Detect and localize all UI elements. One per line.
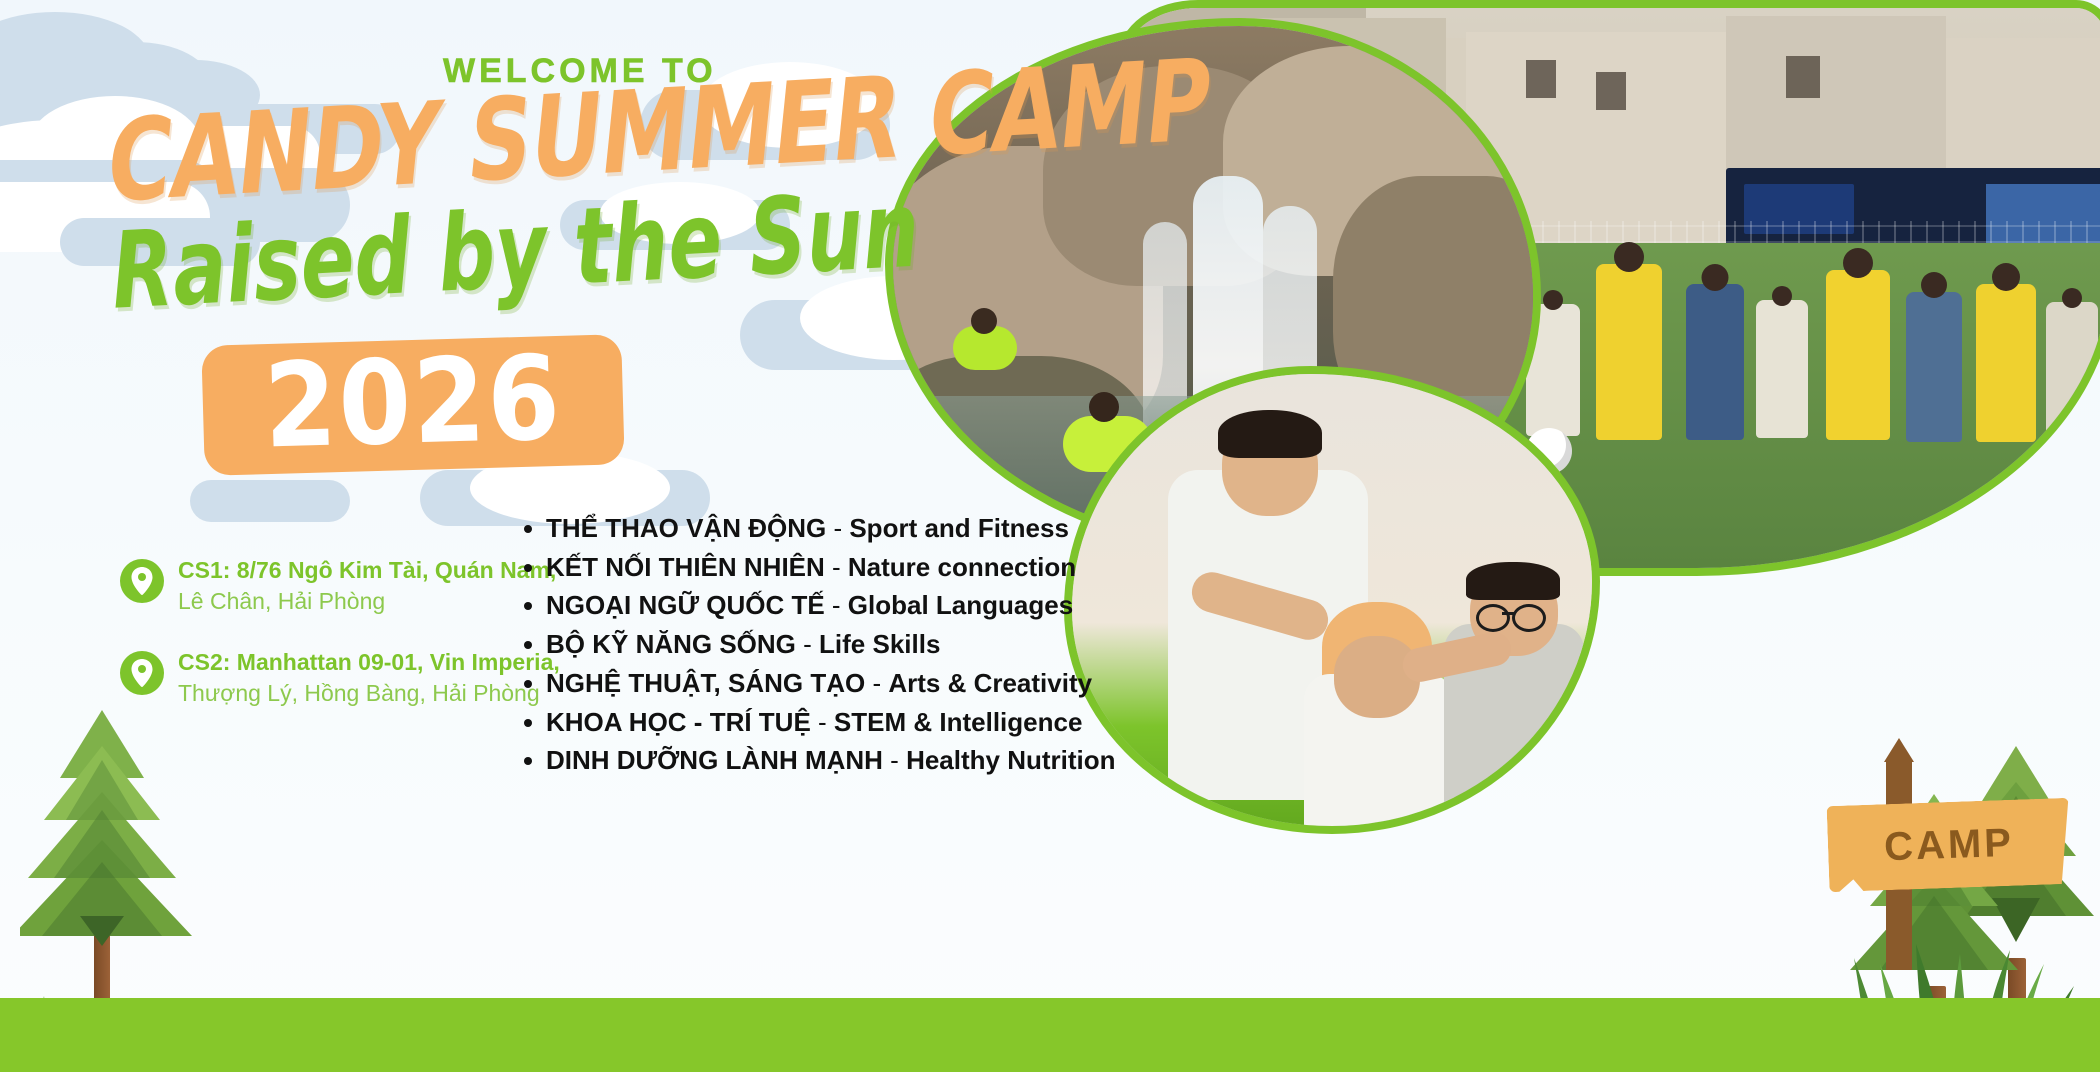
feature-vi: BỘ KỸ NĂNG SỐNG	[546, 629, 796, 659]
feature-en: Healthy Nutrition	[906, 745, 1115, 775]
feature-vi: NGOẠI NGỮ QUỐC TẾ	[546, 590, 825, 620]
year-badge: 2026	[201, 334, 624, 476]
list-item: KẾT NỐI THIÊN NHIÊN - Nature connection	[546, 551, 1116, 583]
feature-vi: NGHỆ THUẬT, SÁNG TẠO	[546, 668, 865, 698]
feature-sep: -	[796, 629, 819, 659]
feature-en: Nature connection	[848, 552, 1076, 582]
feature-en: Arts & Creativity	[888, 668, 1092, 698]
list-item: NGHỆ THUẬT, SÁNG TẠO - Arts & Creativity	[546, 667, 1116, 699]
ground-bar	[0, 998, 2100, 1072]
location-address-line2: Lê Chân, Hải Phòng	[178, 586, 556, 617]
feature-sep: -	[865, 668, 888, 698]
pine-tree-left	[20, 700, 200, 1000]
feature-en: Life Skills	[819, 629, 940, 659]
list-item: BỘ KỸ NĂNG SỐNG - Life Skills	[546, 628, 1116, 660]
map-pin-icon	[120, 559, 164, 603]
location-address-line2: Thượng Lý, Hồng Bàng, Hải Phòng	[178, 678, 560, 709]
feature-vi: THỂ THAO VẬN ĐỘNG	[546, 513, 826, 543]
feature-en: Sport and Fitness	[849, 513, 1069, 543]
list-item: DINH DƯỠNG LÀNH MẠNH - Healthy Nutrition	[546, 744, 1116, 776]
feature-en: Global Languages	[848, 590, 1073, 620]
feature-sep: -	[825, 552, 848, 582]
camp-sign-board: CAMP	[1827, 798, 2072, 892]
camp-sign-label: CAMP	[1883, 820, 2014, 870]
map-pin-icon	[120, 651, 164, 695]
list-item: THỂ THAO VẬN ĐỘNG - Sport and Fitness	[546, 512, 1116, 544]
feature-sep: -	[826, 513, 849, 543]
list-item: KHOA HỌC - TRÍ TUỆ - STEM & Intelligence	[546, 706, 1116, 738]
location-address-line1: CS1: 8/76 Ngô Kim Tài, Quán Nam,	[178, 555, 556, 586]
craft-photo	[1064, 366, 1600, 834]
feature-vi: KẾT NỐI THIÊN NHIÊN	[546, 552, 825, 582]
feature-vi: DINH DƯỠNG LÀNH MẠNH	[546, 745, 883, 775]
feature-sep: -	[811, 707, 834, 737]
summer-camp-banner: WELCOME TO CANDY SUMMER CAMP Raised by t…	[0, 0, 2100, 1072]
feature-en: STEM & Intelligence	[834, 707, 1083, 737]
list-item: NGOẠI NGỮ QUỐC TẾ - Global Languages	[546, 589, 1116, 621]
list-item: CS1: 8/76 Ngô Kim Tài, Quán Nam, Lê Chân…	[120, 555, 540, 617]
feature-sep: -	[825, 590, 848, 620]
feature-sep: -	[883, 745, 906, 775]
location-address-line1: CS2: Manhattan 09-01, Vin Imperia,	[178, 647, 560, 678]
year-label: 2026	[263, 340, 564, 465]
feature-list: THỂ THAO VẬN ĐỘNG - Sport and Fitness KẾ…	[516, 512, 1116, 783]
feature-vi: KHOA HỌC - TRÍ TUỆ	[546, 707, 811, 737]
